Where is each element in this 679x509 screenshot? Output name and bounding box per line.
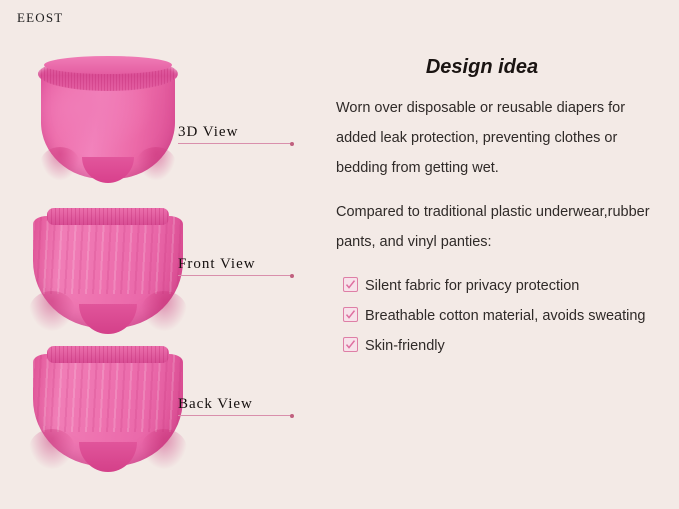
callout-line <box>178 143 292 144</box>
leg-opening-right <box>136 147 176 181</box>
garment-3d <box>38 57 178 179</box>
fabric-pleats <box>33 216 183 294</box>
product-image-front-view <box>33 208 183 328</box>
callout-label: 3D View <box>178 124 292 141</box>
checkbox-checked-icon <box>343 337 358 352</box>
product-view-column: 3D View Front View Back View <box>0 0 330 509</box>
callout-front-view: Front View <box>178 256 292 276</box>
checkbox-checked-icon <box>343 307 358 322</box>
garment-front <box>33 208 183 328</box>
leg-opening-right <box>141 291 187 331</box>
waistband <box>47 346 169 363</box>
callout-back-view: Back View <box>178 396 292 416</box>
waistband <box>47 208 169 225</box>
callout-dot <box>290 414 294 418</box>
callout-dot <box>290 142 294 146</box>
product-image-back-view <box>33 346 183 466</box>
callout-dot <box>290 274 294 278</box>
callout-label: Front View <box>178 256 292 273</box>
garment-back <box>33 346 183 466</box>
garment-gusset <box>79 304 137 334</box>
feature-list-item: Skin-friendly <box>336 331 662 361</box>
callout-3d-view: 3D View <box>178 124 292 144</box>
description-paragraph-1: Worn over disposable or reusable diapers… <box>336 93 662 183</box>
feature-label: Skin-friendly <box>365 338 445 354</box>
fabric-pleats <box>33 354 183 432</box>
callout-line <box>178 275 292 276</box>
callout-line <box>178 415 292 416</box>
checkbox-checked-icon <box>343 277 358 292</box>
feature-label: Breathable cotton material, avoids sweat… <box>365 308 646 324</box>
callout-label: Back View <box>178 396 292 413</box>
leg-opening-left <box>29 291 75 331</box>
feature-label: Silent fabric for privacy protection <box>365 278 579 294</box>
feature-list-item: Breathable cotton material, avoids sweat… <box>336 301 662 331</box>
feature-list-item: Silent fabric for privacy protection <box>336 271 662 301</box>
leg-opening-left <box>40 147 80 181</box>
leg-opening-right <box>141 429 187 469</box>
leg-opening-left <box>29 429 75 469</box>
panel-heading: Design idea <box>336 56 662 79</box>
waistband-top-edge <box>44 56 172 74</box>
feature-list: Silent fabric for privacy protection Bre… <box>336 271 662 361</box>
design-idea-panel: Design idea Worn over disposable or reus… <box>336 56 662 361</box>
garment-gusset <box>82 157 134 183</box>
product-image-3d-view <box>38 57 178 179</box>
garment-gusset <box>79 442 137 472</box>
description-paragraph-2: Compared to traditional plastic underwea… <box>336 197 662 257</box>
